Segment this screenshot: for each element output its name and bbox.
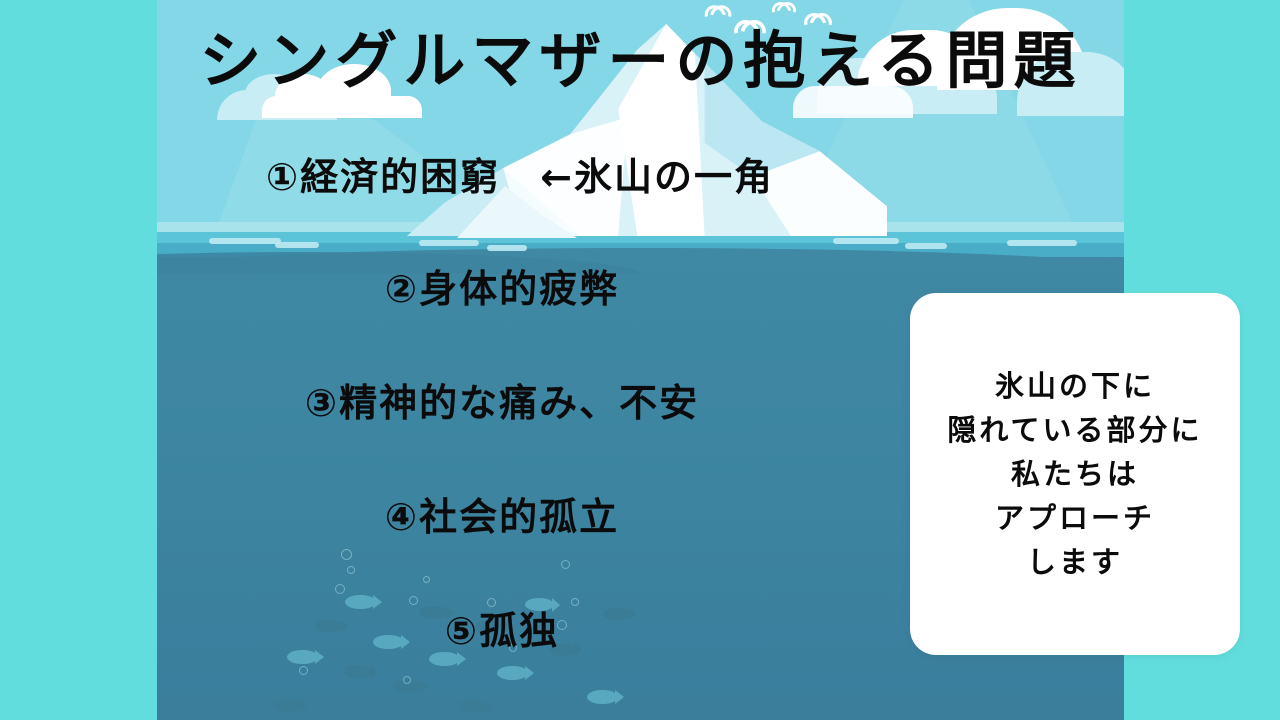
problem-item-1: ①経済的困窮 ←氷山の一角	[0, 146, 1160, 201]
slide-canvas: シングルマザーの抱える問題 ①経済的困窮 ←氷山の一角 ②身体的疲弊 ③精神的な…	[0, 0, 1280, 720]
approach-callout-card: 氷山の下に 隠れている部分に 私たちは アプローチ します	[910, 293, 1240, 655]
callout-line: します	[1027, 540, 1123, 584]
callout-line: 隠れている部分に	[947, 408, 1202, 452]
text-layer: シングルマザーの抱える問題 ①経済的困窮 ←氷山の一角 ②身体的疲弊 ③精神的な…	[0, 0, 1280, 720]
callout-line: 氷山の下に	[995, 364, 1155, 408]
callout-line: アプローチ	[995, 496, 1155, 540]
callout-line: 私たちは	[1011, 452, 1139, 496]
page-title: シングルマザーの抱える問題	[157, 28, 1124, 93]
